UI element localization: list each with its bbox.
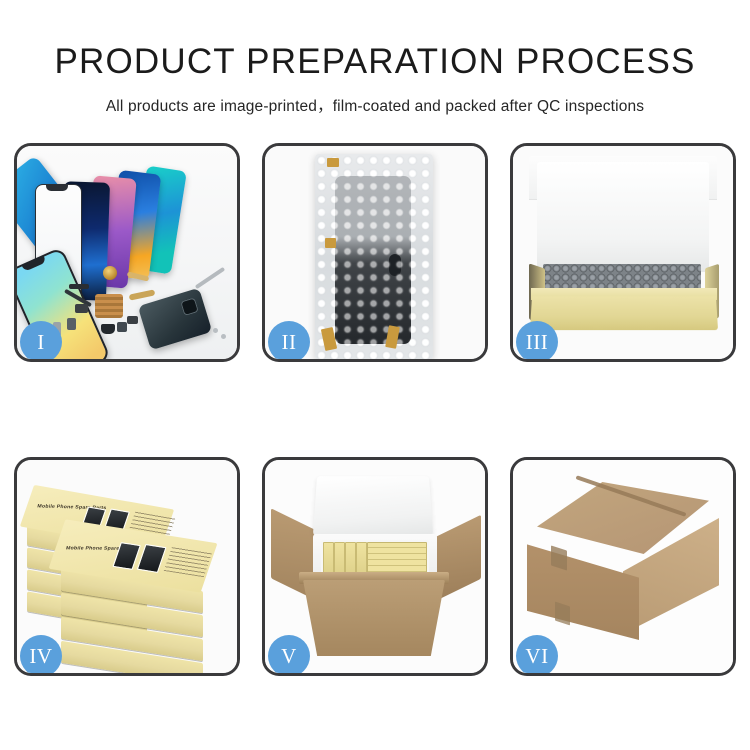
process-step-grid: I II xyxy=(14,143,736,687)
process-step-6[interactable]: VI xyxy=(510,457,736,676)
box-front-panel xyxy=(530,296,718,330)
tape-piece-1 xyxy=(327,158,339,167)
process-step-5[interactable]: V xyxy=(262,457,488,676)
product-preparation-infographic: PRODUCT PREPARATION PROCESS All products… xyxy=(0,0,750,750)
shipping-carton xyxy=(527,482,719,650)
step-badge-1: I xyxy=(20,321,62,362)
box-foam-lid xyxy=(537,162,709,272)
step-badge-4: IV xyxy=(20,635,62,676)
tape-piece-2 xyxy=(325,238,336,248)
box-swatch-front-2 xyxy=(137,544,167,573)
page-title: PRODUCT PREPARATION PROCESS xyxy=(0,42,750,82)
tweezers-tool xyxy=(195,267,225,289)
small-part-2 xyxy=(67,318,76,330)
small-part-1 xyxy=(75,304,88,313)
step-badge-5: V xyxy=(268,635,310,676)
process-step-2[interactable]: II xyxy=(262,143,488,362)
carton-face-front xyxy=(527,536,639,640)
step-badge-2: II xyxy=(268,321,310,362)
speaker-part xyxy=(69,284,89,289)
step-badge-6: VI xyxy=(516,635,558,676)
box-stack: Mobile Phone Spare Parts Mobile Phone Sp… xyxy=(23,474,233,664)
logic-board-part xyxy=(95,294,123,318)
box-spec-lines-front xyxy=(164,546,212,577)
screw-part-1 xyxy=(213,328,218,333)
small-part-6 xyxy=(117,322,127,332)
carton-tape-2 xyxy=(555,602,570,626)
phone-back-housing xyxy=(138,288,213,351)
process-step-1[interactable]: I xyxy=(14,143,240,362)
page-subtitle: All products are image-printed，film-coat… xyxy=(0,94,750,116)
styrofoam-lid xyxy=(313,476,433,536)
header: PRODUCT PREPARATION PROCESS All products… xyxy=(0,0,750,116)
small-part-5 xyxy=(101,324,115,334)
process-step-3[interactable]: III xyxy=(510,143,736,362)
step-badge-3: III xyxy=(516,321,558,362)
carton-body xyxy=(303,580,445,656)
flex-cable-part-1 xyxy=(129,289,156,300)
screw-part-2 xyxy=(221,334,226,339)
process-step-4[interactable]: Mobile Phone Spare Parts Mobile Phone Sp… xyxy=(14,457,240,676)
small-part-3 xyxy=(127,316,138,324)
vibration-motor-part xyxy=(103,266,117,280)
